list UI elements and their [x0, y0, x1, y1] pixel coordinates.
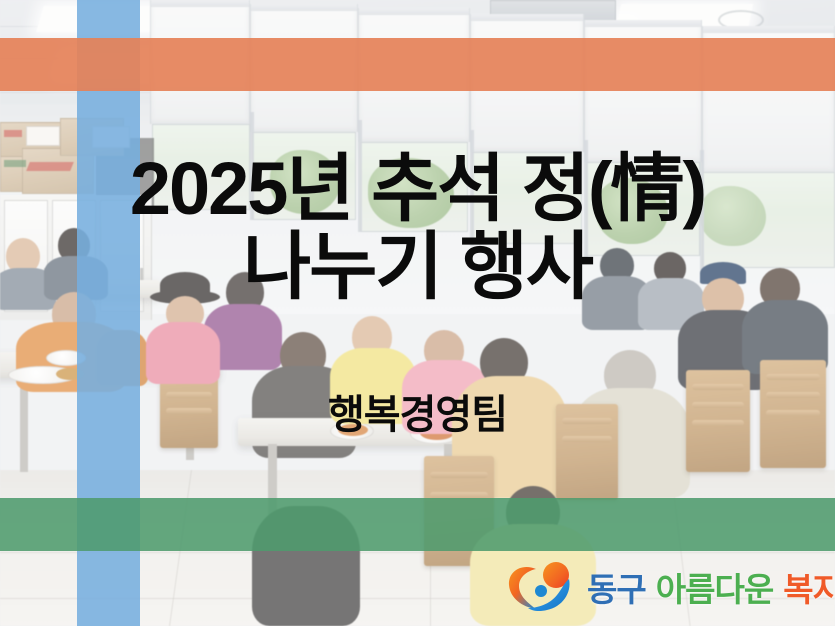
dongu-welfare-swoosh-icon	[506, 559, 578, 615]
person-body	[146, 322, 220, 384]
logo-word-dongu: 동구	[587, 563, 646, 611]
presentation-slide: 2025년 추석 정(情) 나누기 행사 행복경영팀	[0, 0, 835, 626]
decorative-horizontal-green-band	[0, 498, 835, 551]
logo-word-areumdaun: 아름다운	[656, 563, 773, 611]
slide-title: 2025년 추석 정(情) 나누기 행사	[0, 152, 835, 304]
chair-slat	[430, 472, 488, 478]
logo-wordmark: 동구 아름다운 복지관	[587, 563, 835, 611]
organization-logo: 동구 아름다운 복지관	[506, 558, 835, 616]
chair-slat	[766, 374, 820, 380]
title-line-1: 2025년 추석 정(情)	[0, 152, 835, 226]
decorative-horizontal-orange-band	[0, 38, 835, 91]
title-line-2: 나누기 행사	[0, 230, 835, 304]
slide-subtitle: 행복경영팀	[0, 382, 835, 440]
logo-word-bokjigwan: 복지관	[783, 563, 835, 611]
box-label	[26, 126, 60, 146]
box-red-print	[4, 130, 22, 137]
